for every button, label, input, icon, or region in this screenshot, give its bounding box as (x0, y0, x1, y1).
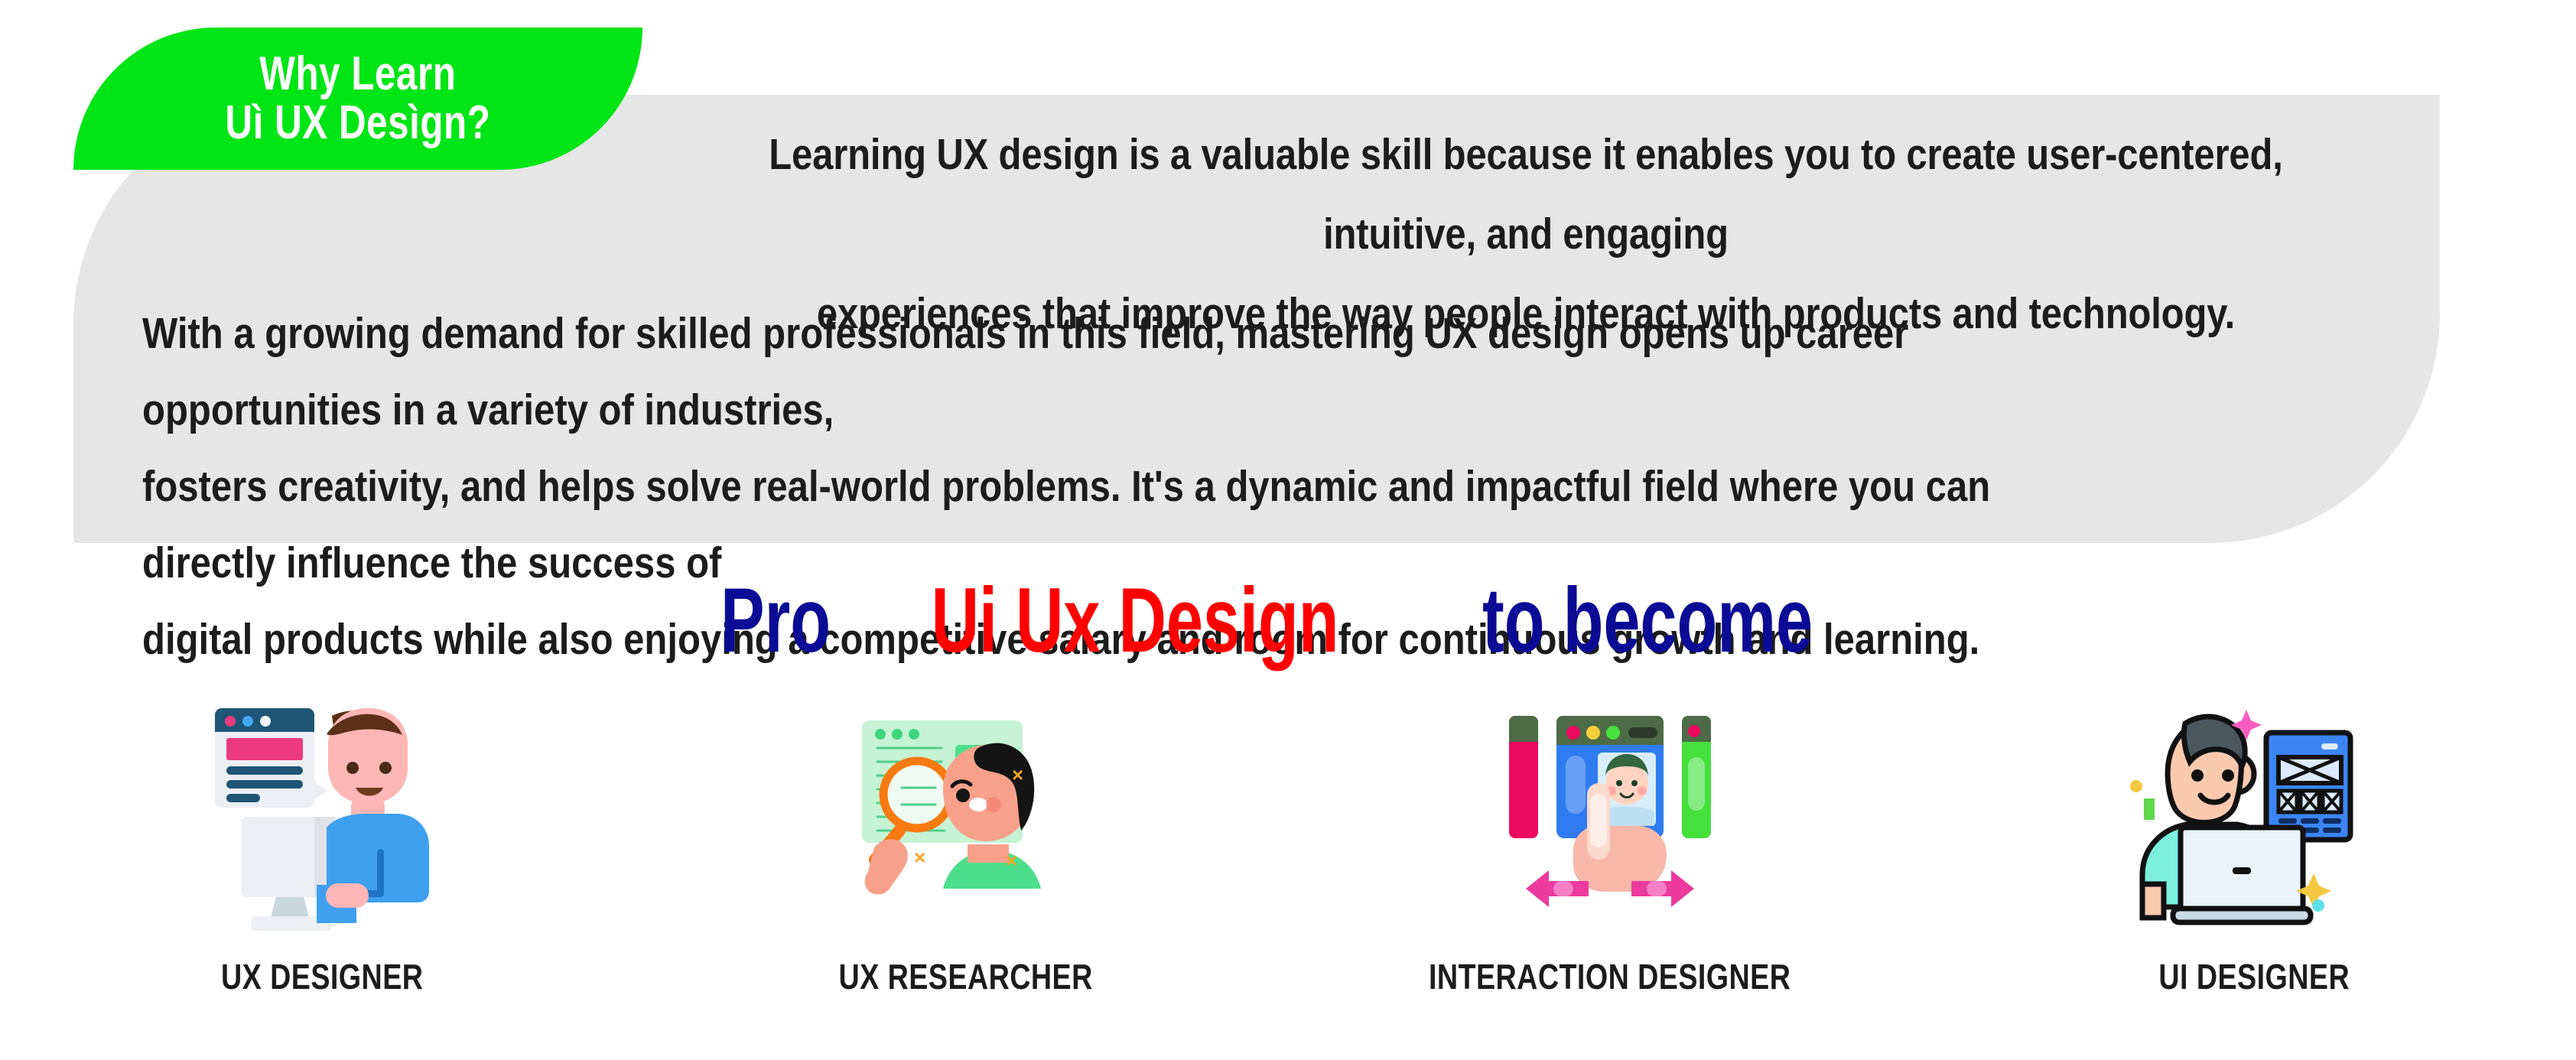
why-learn-badge: Why Learn Uì UX Desìgn? (73, 28, 642, 170)
role-card-ux-researcher: ××× UX RESEARCHER (644, 697, 1288, 997)
role-label: UX DESIGNER (221, 956, 423, 997)
roles-row: UX DESIGNER (0, 697, 2576, 1019)
role-card-ux-designer: UX DESIGNER (0, 697, 644, 997)
role-card-ui-designer: UI DESIGNER (1932, 697, 2576, 997)
interaction-designer-illustration (1472, 697, 1748, 950)
badge-line-2: Uì UX Desìgn? (226, 99, 491, 148)
svg-text:×: × (1006, 849, 1017, 872)
role-label: INTERACTION DESIGNER (1429, 956, 1791, 997)
headline-part-uiux: Ui Ux Design (931, 567, 1338, 673)
paragraph-one-line-1: Learning UX design is a valuable skill b… (746, 115, 2305, 274)
ui-designer-illustration (2116, 697, 2392, 950)
headline-part-tobecome: to become (1482, 567, 1813, 673)
badge-line-1: Why Learn (259, 50, 456, 99)
headline-part-pro: Pro (720, 567, 831, 673)
ux-designer-illustration (184, 697, 460, 950)
ux-researcher-illustration: ××× (828, 697, 1104, 950)
role-label: UI DESIGNER (2158, 956, 2350, 997)
role-card-interaction-designer: INTERACTION DESIGNER (1288, 697, 1932, 997)
section-headline: Pro Ui Ux Design to become (0, 567, 2576, 673)
svg-text:×: × (914, 846, 925, 869)
svg-text:×: × (1012, 763, 1023, 786)
role-label: UX RESEARCHER (839, 956, 1093, 997)
paragraph-two-line-1: With a growing demand for skilled profes… (142, 295, 2122, 448)
